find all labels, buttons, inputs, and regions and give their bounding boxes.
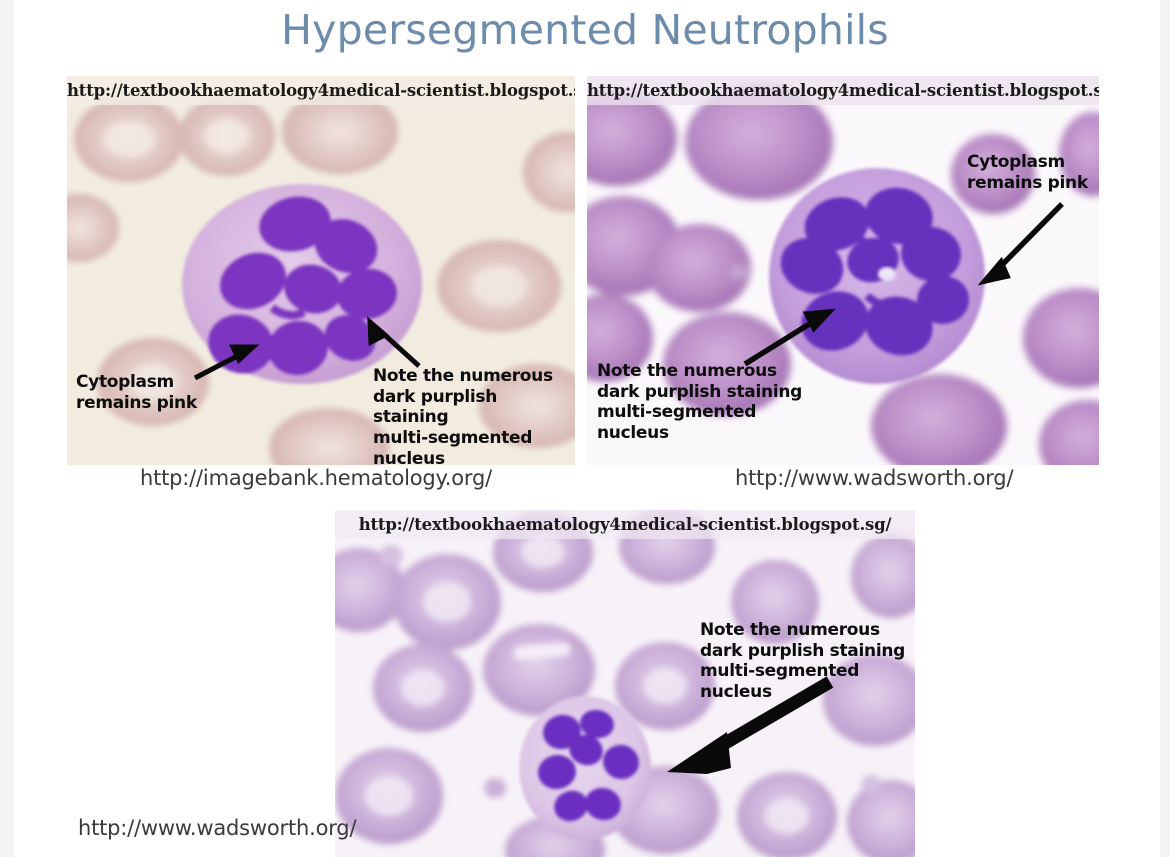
annotation-nucleus-note-1: Note the numerous dark purplish staining… [373,366,575,465]
annotation-cytoplasm-note-1: Cytoplasm remains pink [76,372,197,413]
micrograph-panel-1: http://textbookhaematology4medical-scien… [67,76,575,465]
source-url-label-3: http://textbookhaematology4medical-scien… [335,510,915,539]
source-url-label-2: http://textbookhaematology4medical-scien… [587,76,1099,105]
neutrophil-cell-2 [769,168,985,384]
annotation-cytoplasm-note-2: Cytoplasm remains pink [967,152,1088,193]
annotation-nucleus-note-2: Note the numerous dark purplish staining… [597,361,802,444]
neutrophil-cell-3 [519,696,651,840]
caption-panel-2: http://www.wadsworth.org/ [735,466,1013,490]
slide-canvas: Hypersegmented Neutrophils [0,0,1170,857]
source-url-label-1: http://textbookhaematology4medical-scien… [67,76,575,105]
slide-right-margin-band [1160,0,1170,857]
caption-panel-3: http://www.wadsworth.org/ [78,816,356,840]
micrograph-panel-3: http://textbookhaematology4medical-scien… [335,510,915,857]
micrograph-panel-2: http://textbookhaematology4medical-scien… [587,76,1099,465]
caption-panel-1: http://imagebank.hematology.org/ [140,466,492,490]
slide-left-margin-band [0,0,14,857]
page-title: Hypersegmented Neutrophils [0,6,1170,54]
neutrophil-cell-1 [182,184,422,384]
annotation-nucleus-note-3: Note the numerous dark purplish staining… [700,620,905,703]
